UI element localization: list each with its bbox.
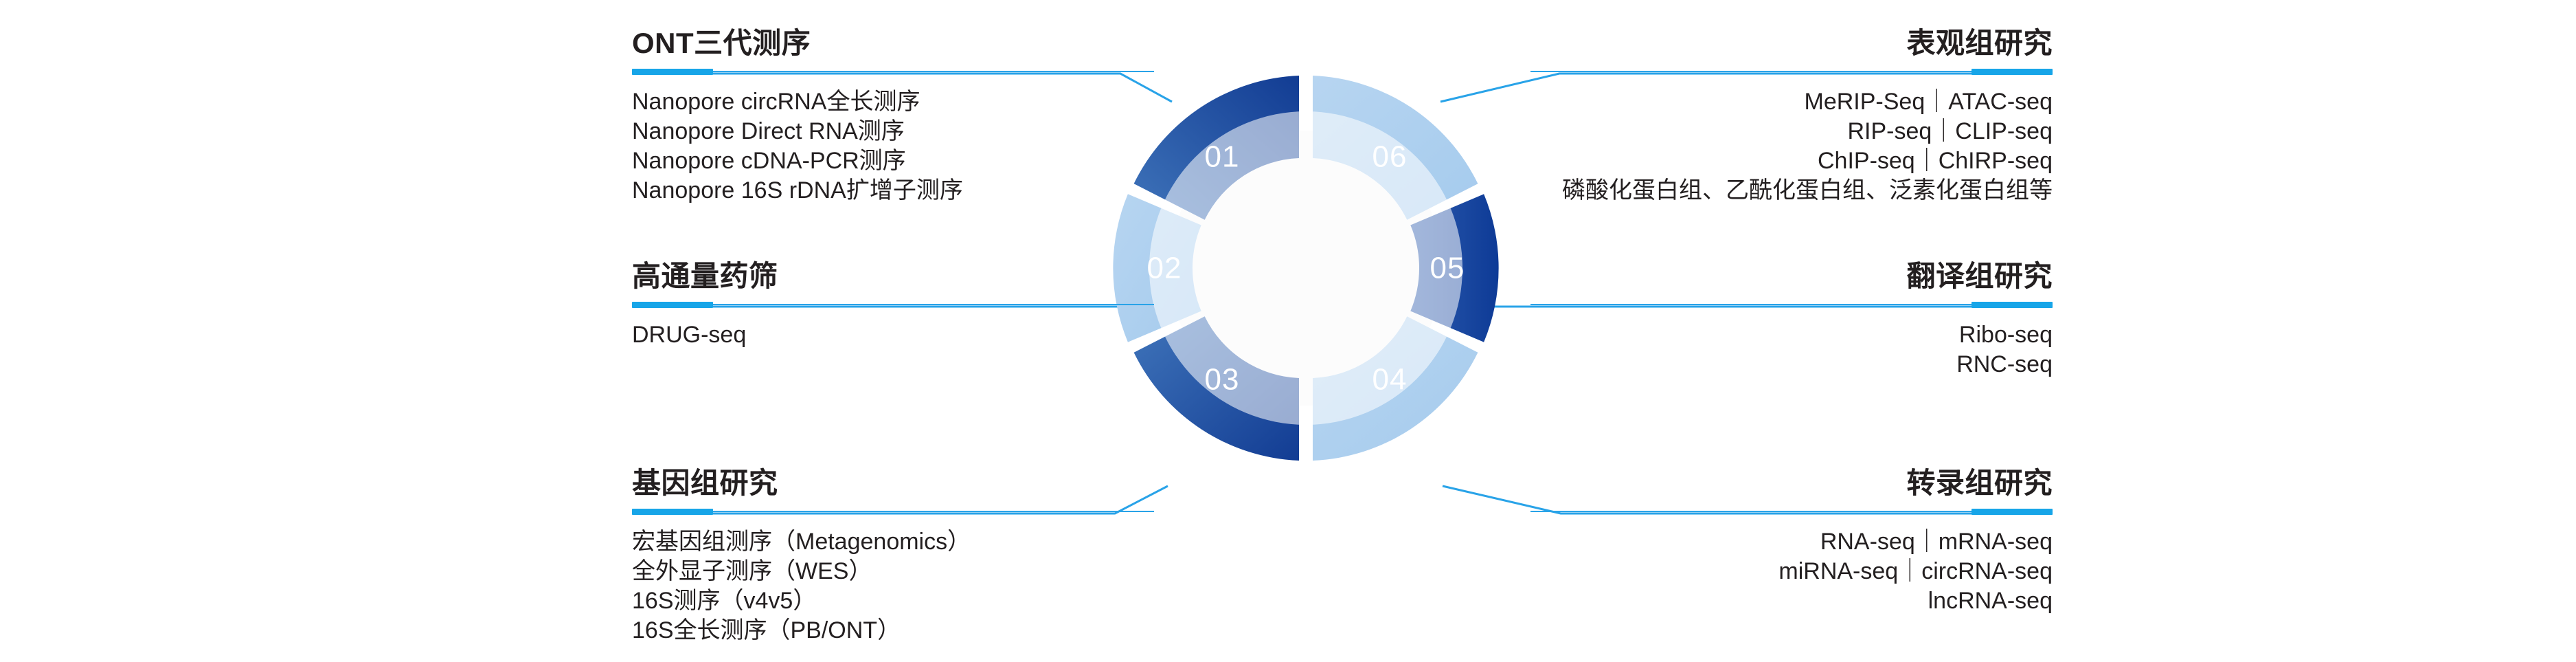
block-genome-heading: 基因组研究 <box>632 467 1154 499</box>
block-epigenome-rule <box>1530 68 2053 75</box>
block-drug-lines: DRUG-seq <box>632 320 1154 350</box>
list-item: 16S全长测序（PB/ONT） <box>632 616 1154 646</box>
block-ont: ONT三代测序 Nanopore circRNA全长测序 Nanopore Di… <box>632 27 1154 206</box>
rule-accent-bar <box>632 302 713 308</box>
rule-accent-bar <box>1971 509 2053 515</box>
block-epigenome: 表观组研究 MeRIP-Seq｜ATAC-seq RIP-seq｜CLIP-se… <box>1530 27 2053 206</box>
block-translatome-rule <box>1530 301 2053 308</box>
list-item: RNC-seq <box>1530 350 2053 379</box>
list-item: RIP-seq｜CLIP-seq <box>1530 117 2053 146</box>
list-item: 宏基因组测序（Metagenomics） <box>632 527 1154 557</box>
block-transcriptome-heading: 转录组研究 <box>1530 467 2053 499</box>
list-item: 磷酸化蛋白组、乙酰化蛋白组、泛素化蛋白组等 <box>1530 176 2053 206</box>
list-item: lncRNA-seq <box>1530 586 2053 616</box>
list-item: Nanopore circRNA全长测序 <box>632 87 1154 117</box>
rule-accent-bar <box>1971 69 2053 75</box>
infographic-canvas: 01 06 02 05 03 04 ONT三代测序 <box>0 0 2576 662</box>
donut-overlay-disc <box>1149 111 1462 425</box>
block-transcriptome-lines: RNA-seq｜mRNA-seq miRNA-seq｜circRNA-seq l… <box>1530 527 2053 616</box>
list-item: Nanopore cDNA-PCR测序 <box>632 146 1154 176</box>
block-translatome-heading: 翻译组研究 <box>1530 261 2053 292</box>
block-ont-lines: Nanopore circRNA全长测序 Nanopore Direct RNA… <box>632 87 1154 206</box>
block-translatome-lines: Ribo-seq RNC-seq <box>1530 320 2053 379</box>
block-genome-rule <box>632 508 1154 515</box>
list-item: ChIP-seq｜ChIRP-seq <box>1530 146 2053 176</box>
block-transcriptome: 转录组研究 RNA-seq｜mRNA-seq miRNA-seq｜circRNA… <box>1530 467 2053 616</box>
list-item: Ribo-seq <box>1530 320 2053 350</box>
list-item: Nanopore Direct RNA测序 <box>632 117 1154 146</box>
rule-accent-bar <box>632 69 713 75</box>
block-epigenome-lines: MeRIP-Seq｜ATAC-seq RIP-seq｜CLIP-seq ChIP… <box>1530 87 2053 206</box>
rule-accent-bar <box>632 509 713 515</box>
list-item: RNA-seq｜mRNA-seq <box>1530 527 2053 557</box>
list-item: miRNA-seq｜circRNA-seq <box>1530 557 2053 586</box>
list-item: 16S测序（v4v5） <box>632 586 1154 616</box>
block-drug-rule <box>632 301 1154 308</box>
block-genome-lines: 宏基因组测序（Metagenomics） 全外显子测序（WES） 16S测序（v… <box>632 527 1154 646</box>
block-drug-heading: 高通量药筛 <box>632 261 1154 292</box>
block-genome: 基因组研究 宏基因组测序（Metagenomics） 全外显子测序（WES） 1… <box>632 467 1154 646</box>
list-item: 全外显子测序（WES） <box>632 557 1154 586</box>
list-item: MeRIP-Seq｜ATAC-seq <box>1530 87 2053 117</box>
block-ont-rule <box>632 68 1154 75</box>
block-ont-heading: ONT三代测序 <box>632 27 1154 59</box>
list-item: DRUG-seq <box>632 320 1154 350</box>
block-translatome: 翻译组研究 Ribo-seq RNC-seq <box>1530 261 2053 379</box>
block-epigenome-heading: 表观组研究 <box>1530 27 2053 59</box>
rule-accent-bar <box>1971 302 2053 308</box>
block-drug: 高通量药筛 DRUG-seq <box>632 261 1154 350</box>
list-item: Nanopore 16S rDNA扩增子测序 <box>632 176 1154 206</box>
block-transcriptome-rule <box>1530 508 2053 515</box>
